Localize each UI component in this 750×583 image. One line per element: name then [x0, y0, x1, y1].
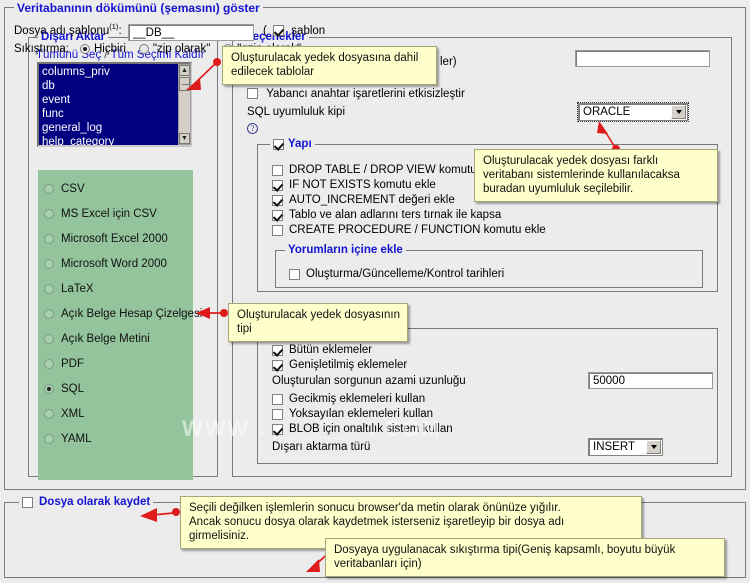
callout-compression: Dosyaya uygulanacak sıkıştırma tipi(Geni…: [325, 538, 725, 577]
callout-sql-mode: Oluşturulacak yedek dosyası farklı verit…: [474, 149, 718, 202]
arrow-save-as-file: [140, 508, 180, 522]
callout-tables: Oluşturulacak yedek dosyasına dahil edil…: [222, 46, 437, 85]
arrow-tables: [186, 58, 221, 90]
callout-file-type: Oluşturulacak yedek dosyasının tipi: [228, 303, 408, 342]
arrow-file-type: [196, 307, 228, 319]
